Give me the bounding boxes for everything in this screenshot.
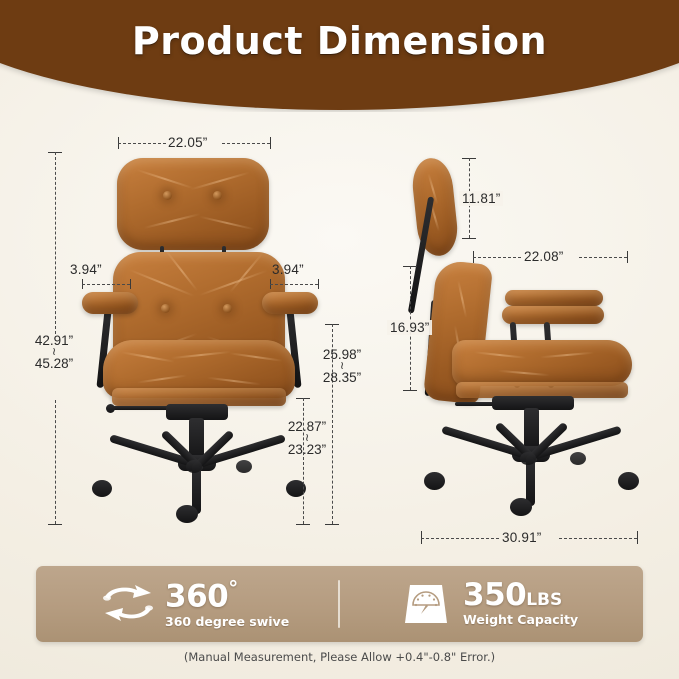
dim-label-seat-height-max: 23.23”	[288, 442, 326, 457]
side-caster-4	[520, 452, 536, 465]
dim-line-armrest-right-cap-b	[318, 279, 319, 289]
feature-weight-text: 350LBS Weight Capacity	[463, 581, 578, 627]
dim-label-seat-height: 22.87” ≀ 23.23”	[265, 420, 349, 457]
weight-scale-icon	[396, 580, 456, 628]
front-tilt-lever-knob	[106, 404, 115, 413]
dim-line-overall-height-cap-bottom	[48, 524, 62, 525]
side-armrest	[505, 290, 603, 306]
feature-divider	[338, 580, 340, 628]
dim-line-seat-depth-right	[579, 257, 627, 258]
dim-label-overall-height-max: 45.28”	[35, 356, 73, 371]
feature-swivel-text: 360° 360 degree swive	[165, 579, 289, 629]
dim-label-armrest-left: 3.94”	[70, 262, 102, 277]
dim-label-back-height: 25.98” ≀ 28.35”	[300, 348, 384, 385]
side-armrest-lower	[502, 306, 604, 324]
feature-swivel-unit: °	[228, 576, 238, 600]
dim-line-armrest-left-cap-b	[130, 279, 131, 289]
dim-label-seat-depth: 22.08”	[524, 249, 563, 264]
dim-line-seat-depth-cap-right	[627, 251, 628, 263]
product-dimension-infographic: Product Dimension	[0, 0, 679, 679]
dim-line-seat-depth-left	[473, 257, 521, 258]
dim-label-headrest-height: 11.81”	[459, 191, 503, 206]
feature-weight-number: 350	[463, 577, 526, 613]
front-headrest	[117, 158, 269, 250]
dim-line-overall-depth-cap-right	[637, 531, 638, 544]
feature-weight-unit: LBS	[526, 590, 562, 610]
dim-line-overall-width-right	[222, 143, 270, 144]
feature-weight-value: 350LBS	[463, 581, 578, 610]
side-seat-cushion	[452, 340, 632, 386]
dim-label-armrest-right: 3.94”	[272, 262, 304, 277]
page-title: Product Dimension	[0, 19, 679, 63]
feature-swivel-caption: 360 degree swive	[165, 614, 289, 629]
side-caster-1	[424, 472, 445, 490]
feature-swivel-value: 360°	[165, 579, 289, 612]
front-armrest-right	[262, 292, 318, 314]
dim-line-armrest-left	[82, 284, 130, 285]
dim-label-overall-height: 42.91” ≀ 45.28”	[12, 334, 96, 371]
feature-swivel: 360° 360 degree swive	[98, 566, 289, 642]
rotate-arrows-icon	[98, 580, 158, 628]
dim-line-overall-height-upper	[55, 152, 56, 334]
feature-weight-caption: Weight Capacity	[463, 612, 578, 627]
front-armrest-left	[82, 292, 138, 314]
front-caster-5	[236, 460, 252, 473]
front-tilt-lever	[110, 406, 172, 410]
front-caster-1	[92, 480, 112, 497]
side-caster-3	[510, 498, 532, 516]
dim-label-backrest-height: 16.93”	[387, 320, 432, 335]
side-headrest	[410, 156, 460, 258]
dim-line-overall-depth-left	[421, 538, 499, 539]
dim-label-overall-width: 22.05”	[168, 135, 207, 150]
dim-line-backrest-height-cap-bottom	[403, 390, 417, 391]
dim-label-back-height-max: 28.35”	[323, 370, 361, 385]
feature-swivel-number: 360	[165, 578, 228, 614]
dim-line-overall-height-lower	[55, 400, 56, 524]
dim-line-overall-width-left	[118, 143, 166, 144]
front-caster-3	[176, 505, 198, 523]
side-caster-5	[570, 452, 586, 465]
feature-weight-capacity: 350LBS Weight Capacity	[396, 566, 578, 642]
measurement-disclaimer: (Manual Measurement, Please Allow +0.4"-…	[0, 650, 679, 664]
dim-line-back-height-cap-bottom	[325, 524, 339, 525]
front-caster-4	[186, 460, 202, 473]
dim-line-seat-height	[303, 398, 304, 524]
side-caster-2	[618, 472, 639, 490]
dim-line-headrest-height-cap-bottom	[462, 238, 476, 239]
dim-line-seat-height-cap-bottom	[296, 524, 310, 525]
dim-line-overall-width-cap-right	[270, 137, 271, 149]
feature-bar: 360° 360 degree swive	[36, 566, 643, 642]
dim-label-overall-depth: 30.91”	[502, 530, 541, 545]
dim-line-overall-depth-right	[559, 538, 637, 539]
dim-line-armrest-right	[270, 284, 318, 285]
